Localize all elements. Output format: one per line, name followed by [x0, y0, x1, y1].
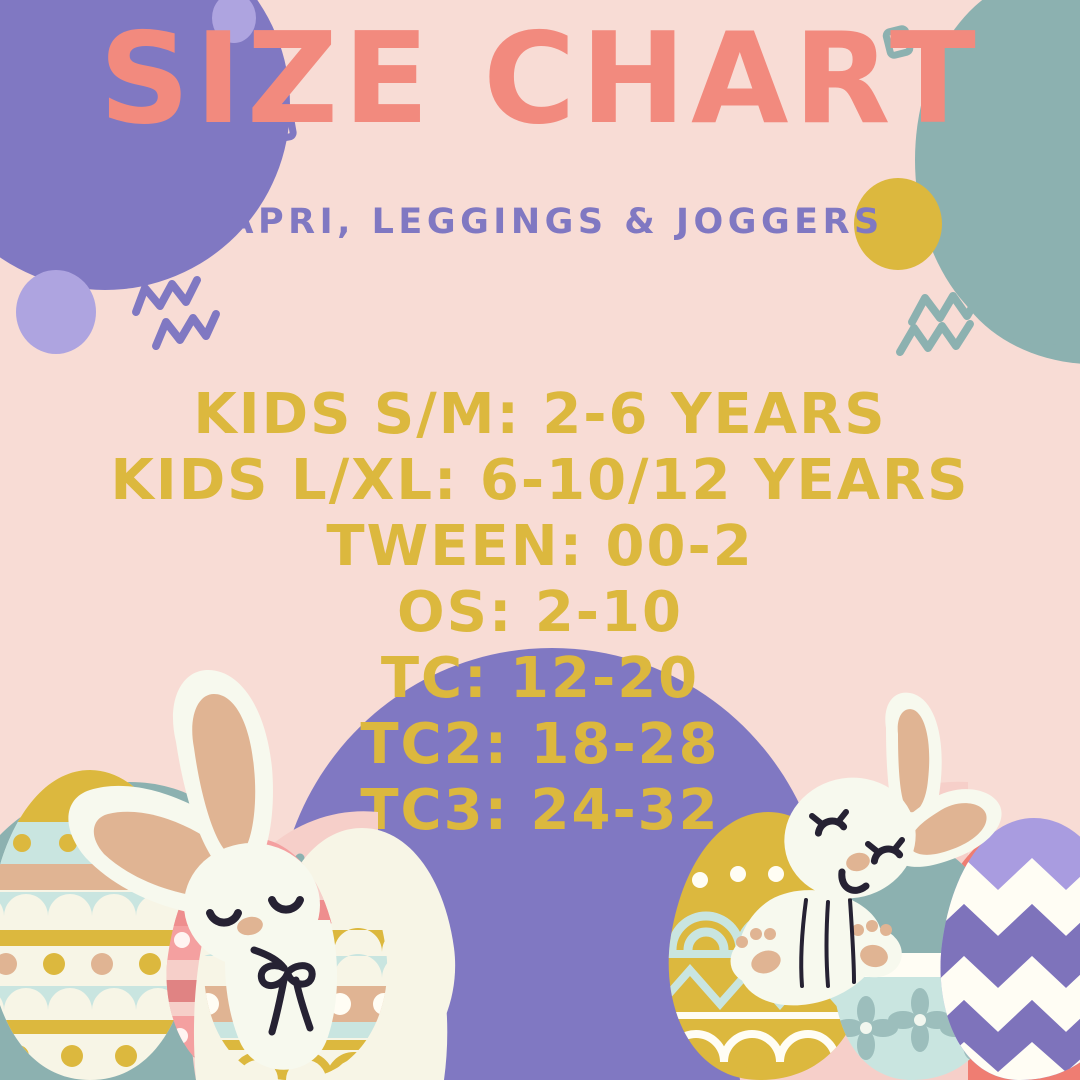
- size-chart-poster: SIZE CHART CAPRI, LEGGINGS & JOGGERS KID…: [0, 0, 1080, 1080]
- illustration-layer: [0, 0, 1080, 1080]
